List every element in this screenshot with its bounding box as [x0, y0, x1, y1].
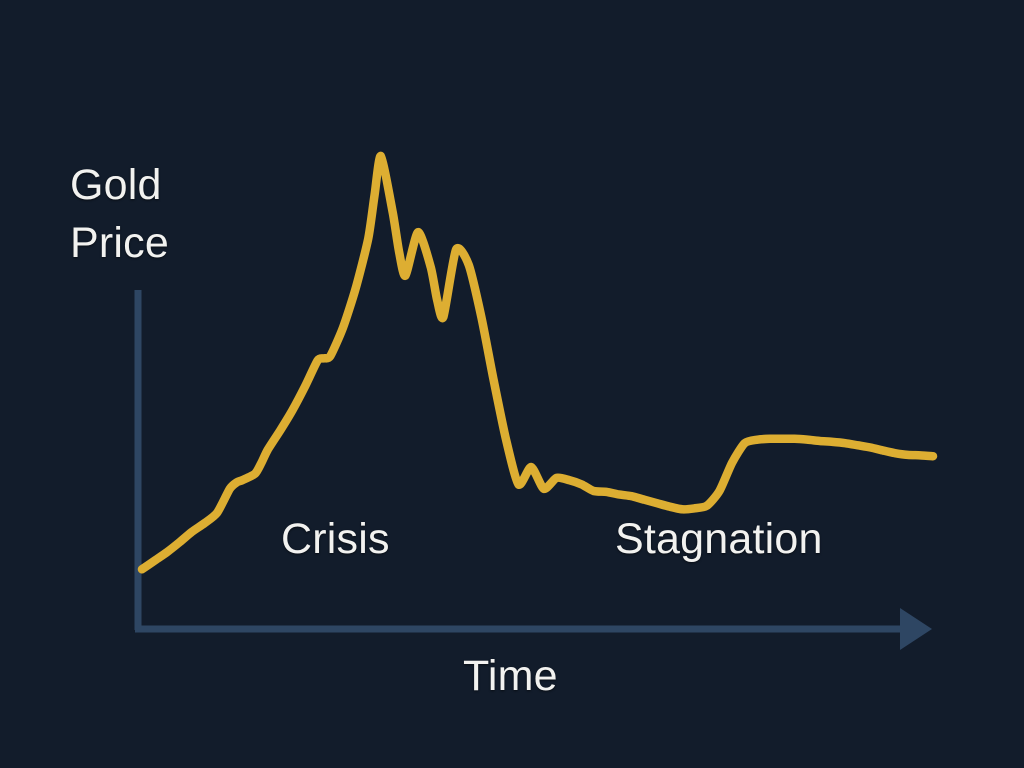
- y-axis-label-line2: Price: [70, 219, 169, 267]
- series-group: [142, 156, 933, 569]
- annotation-crisis: Crisis: [281, 515, 390, 564]
- x-axis-label: Time: [463, 652, 558, 701]
- y-axis-label-line1: Gold: [70, 161, 162, 209]
- chart-canvas: GoldPrice Time Crisis Stagnation: [0, 0, 1024, 768]
- series-line-gold-price: [142, 156, 933, 569]
- annotation-stagnation: Stagnation: [615, 515, 823, 564]
- y-axis-label: GoldPrice: [70, 157, 169, 272]
- x-axis-arrowhead-icon: [900, 608, 932, 650]
